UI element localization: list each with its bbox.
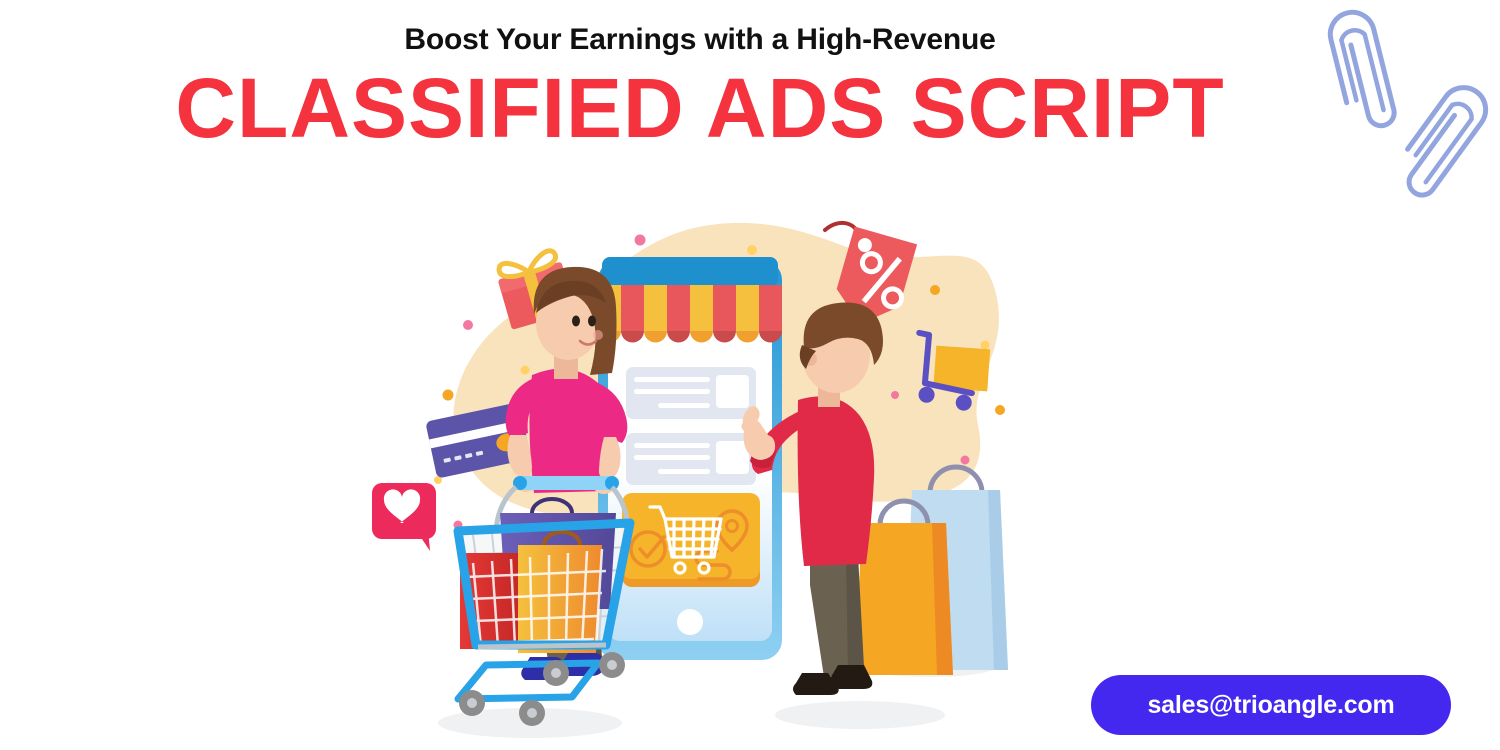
heart-like-icon — [372, 483, 436, 551]
subheadline: Boost Your Earnings with a High-Revenue — [0, 22, 1400, 58]
listing-thumbnail — [716, 441, 749, 474]
phone-home-button — [677, 609, 703, 635]
promo-card[interactable] — [622, 493, 760, 587]
paperclip-icon — [1389, 79, 1494, 200]
phone-top-bar — [602, 257, 778, 287]
listing-card[interactable] — [626, 433, 756, 485]
shopping-illustration — [340, 195, 1040, 750]
promo-banner: Boost Your Earnings with a High-Revenue … — [0, 0, 1500, 750]
headline-block: Boost Your Earnings with a High-Revenue … — [0, 22, 1400, 152]
contact-email-label: sales@trioangle.com — [1147, 691, 1394, 720]
listing-card[interactable] — [626, 367, 756, 419]
page-title: CLASSIFIED ADS SCRIPT — [0, 64, 1400, 152]
contact-email-button[interactable]: sales@trioangle.com — [1091, 675, 1451, 735]
shopping-cart — [458, 476, 630, 726]
listing-thumbnail — [716, 375, 749, 408]
